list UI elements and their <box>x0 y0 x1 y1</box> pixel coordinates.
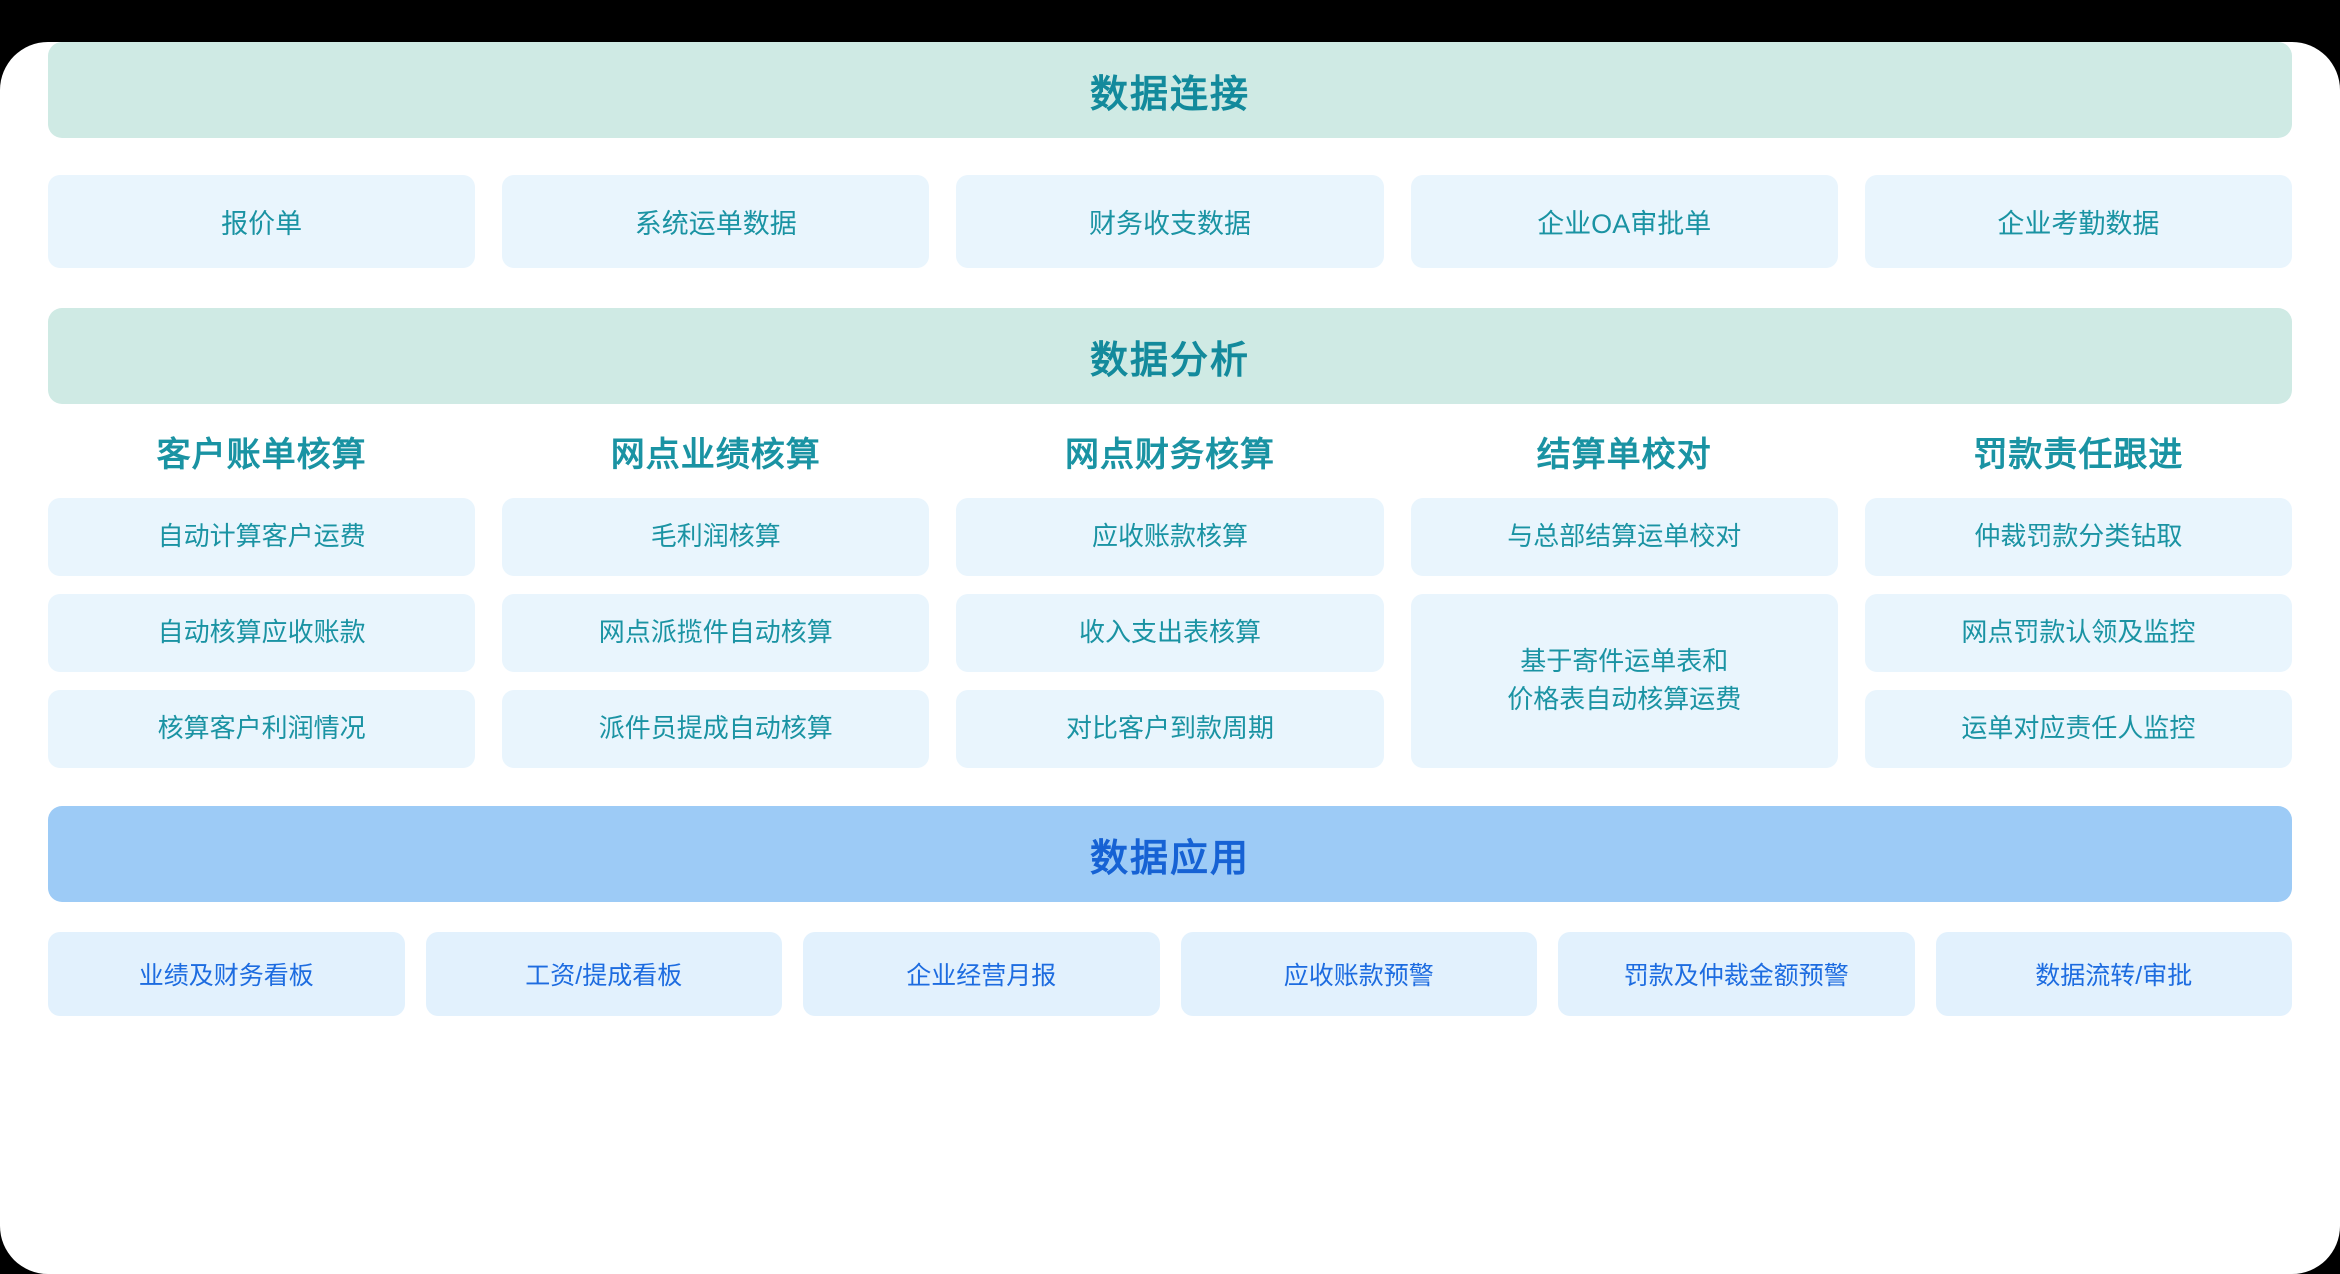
analysis-column-cells: 仲裁罚款分类钻取 网点罚款认领及监控 运单对应责任人监控 <box>1865 498 2292 768</box>
diagram-canvas: 数据连接 报价单 系统运单数据 财务收支数据 企业OA审批单 企业考勤数据 数据… <box>0 42 2340 1274</box>
analysis-cell-label: 核算客户利润情况 <box>158 710 366 748</box>
application-card-label: 罚款及仲裁金额预警 <box>1624 956 1849 992</box>
analysis-column-cells: 毛利润核算 网点派揽件自动核算 派件员提成自动核算 <box>502 498 929 768</box>
data-source-card[interactable]: 企业考勤数据 <box>1865 175 2292 268</box>
data-source-card-label: 企业OA审批单 <box>1537 202 1711 241</box>
analysis-cell-label: 应收账款核算 <box>1092 518 1248 556</box>
application-card-label: 工资/提成看板 <box>525 956 682 992</box>
analysis-column-branch-performance: 网点业绩核算 毛利润核算 网点派揽件自动核算 派件员提成自动核算 <box>502 420 929 768</box>
analysis-cell[interactable]: 自动核算应收账款 <box>48 594 475 672</box>
analysis-column-cells: 应收账款核算 收入支出表核算 对比客户到款周期 <box>956 498 1383 768</box>
analysis-cell-label: 基于寄件运单表和价格表自动核算运费 <box>1507 643 1741 718</box>
analysis-cell[interactable]: 核算客户利润情况 <box>48 690 475 768</box>
data-source-card[interactable]: 财务收支数据 <box>956 175 1383 268</box>
analysis-cell[interactable]: 与总部结算运单校对 <box>1411 498 1838 576</box>
application-card-label: 应收账款预警 <box>1284 956 1434 992</box>
analysis-cell[interactable]: 自动计算客户运费 <box>48 498 475 576</box>
analysis-column-cells: 自动计算客户运费 自动核算应收账款 核算客户利润情况 <box>48 498 475 768</box>
section-banner-data-connection: 数据连接 <box>48 42 2292 138</box>
analysis-cell-label: 自动核算应收账款 <box>158 614 366 652</box>
analysis-column-title: 网点业绩核算 <box>502 420 929 498</box>
application-card[interactable]: 工资/提成看板 <box>426 932 783 1016</box>
application-card-label: 企业经营月报 <box>906 956 1056 992</box>
data-source-card-label: 企业考勤数据 <box>1997 202 2159 241</box>
section-banner-data-analysis: 数据分析 <box>48 308 2292 404</box>
analysis-column-title: 客户账单核算 <box>48 420 475 498</box>
analysis-cell-label: 收入支出表核算 <box>1079 614 1261 652</box>
analysis-column-branch-finance: 网点财务核算 应收账款核算 收入支出表核算 对比客户到款周期 <box>956 420 1383 768</box>
section-banner-data-application: 数据应用 <box>48 806 2292 902</box>
data-analysis-columns: 客户账单核算 自动计算客户运费 自动核算应收账款 核算客户利润情况 网点业绩核算… <box>48 420 2292 768</box>
analysis-cell[interactable]: 网点派揽件自动核算 <box>502 594 929 672</box>
data-application-card-row: 业绩及财务看板 工资/提成看板 企业经营月报 应收账款预警 罚款及仲裁金额预警 … <box>48 932 2292 1016</box>
data-source-card-label: 系统运单数据 <box>635 202 797 241</box>
analysis-cell[interactable]: 网点罚款认领及监控 <box>1865 594 2292 672</box>
analysis-column-penalty-tracking: 罚款责任跟进 仲裁罚款分类钻取 网点罚款认领及监控 运单对应责任人监控 <box>1865 420 2292 768</box>
analysis-cell-label: 自动计算客户运费 <box>158 518 366 556</box>
data-source-card-label: 报价单 <box>221 202 302 241</box>
analysis-cell[interactable]: 仲裁罚款分类钻取 <box>1865 498 2292 576</box>
application-card[interactable]: 企业经营月报 <box>803 932 1160 1016</box>
analysis-cell-label: 毛利润核算 <box>651 518 781 556</box>
analysis-cell[interactable]: 基于寄件运单表和价格表自动核算运费 <box>1411 594 1838 768</box>
application-card-label: 数据流转/审批 <box>2035 956 2192 992</box>
analysis-cell-label: 网点派揽件自动核算 <box>599 614 833 652</box>
analysis-cell-label: 仲裁罚款分类钻取 <box>1974 518 2182 556</box>
analysis-cell[interactable]: 收入支出表核算 <box>956 594 1383 672</box>
analysis-cell-label: 派件员提成自动核算 <box>599 710 833 748</box>
analysis-cell[interactable]: 应收账款核算 <box>956 498 1383 576</box>
data-source-card-label: 财务收支数据 <box>1089 202 1251 241</box>
analysis-cell-label: 网点罚款认领及监控 <box>1961 614 2195 652</box>
application-card[interactable]: 业绩及财务看板 <box>48 932 405 1016</box>
data-source-card[interactable]: 系统运单数据 <box>502 175 929 268</box>
analysis-column-customer-billing: 客户账单核算 自动计算客户运费 自动核算应收账款 核算客户利润情况 <box>48 420 475 768</box>
application-card[interactable]: 应收账款预警 <box>1181 932 1538 1016</box>
application-card[interactable]: 数据流转/审批 <box>1936 932 2293 1016</box>
analysis-column-settlement-check: 结算单校对 与总部结算运单校对 基于寄件运单表和价格表自动核算运费 <box>1411 420 1838 768</box>
data-source-card[interactable]: 企业OA审批单 <box>1411 175 1838 268</box>
analysis-cell-label: 与总部结算运单校对 <box>1507 518 1741 556</box>
analysis-cell-label: 运单对应责任人监控 <box>1961 710 2195 748</box>
analysis-cell[interactable]: 毛利润核算 <box>502 498 929 576</box>
data-source-card[interactable]: 报价单 <box>48 175 475 268</box>
analysis-column-title: 罚款责任跟进 <box>1865 420 2292 498</box>
analysis-cell[interactable]: 运单对应责任人监控 <box>1865 690 2292 768</box>
application-card[interactable]: 罚款及仲裁金额预警 <box>1558 932 1915 1016</box>
analysis-cell[interactable]: 派件员提成自动核算 <box>502 690 929 768</box>
application-card-label: 业绩及财务看板 <box>139 956 314 992</box>
analysis-column-title: 结算单校对 <box>1411 420 1838 498</box>
analysis-cell[interactable]: 对比客户到款周期 <box>956 690 1383 768</box>
analysis-cell-label: 对比客户到款周期 <box>1066 710 1274 748</box>
analysis-column-title: 网点财务核算 <box>956 420 1383 498</box>
data-connection-card-row: 报价单 系统运单数据 财务收支数据 企业OA审批单 企业考勤数据 <box>48 175 2292 268</box>
analysis-column-cells: 与总部结算运单校对 基于寄件运单表和价格表自动核算运费 <box>1411 498 1838 768</box>
